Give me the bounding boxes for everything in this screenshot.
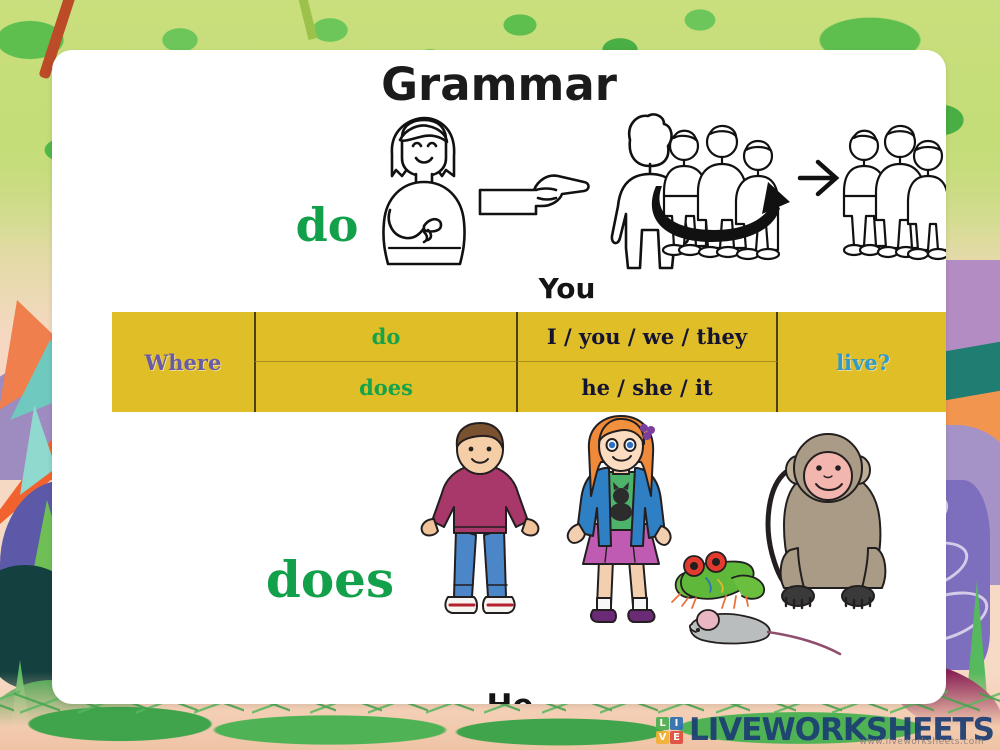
- animals-monkey-frog-mouse-icon: [672, 430, 922, 660]
- table-cell-aux-plural: do: [254, 312, 516, 362]
- boy-illustration-icon: [410, 425, 550, 630]
- table-cell-question-word: Where: [112, 312, 254, 412]
- logo-tile-v: V: [656, 731, 669, 744]
- page-title: Grammar: [52, 58, 946, 111]
- illustration-he: [410, 425, 550, 630]
- liveworksheets-watermark[interactable]: L I V E LIVEWORKSHEETS www.liveworksheet…: [656, 715, 994, 746]
- illustration-we: [650, 120, 795, 270]
- illustration-it: [672, 430, 922, 660]
- worksheet-card: Grammar do: [52, 50, 946, 704]
- caption-he: He: [440, 688, 580, 704]
- logo-tile-i: I: [670, 717, 683, 730]
- right-arrow-icon: [800, 162, 836, 194]
- group-with-circular-arrow-icon: [650, 120, 795, 270]
- table-cell-subjects-plural: I / you / we / they: [516, 312, 778, 362]
- person-pointing-to-self-icon: [362, 110, 482, 270]
- grammar-table: Where do I / you / we / they does he / s…: [112, 312, 946, 412]
- logo-tile-e: E: [670, 731, 683, 744]
- table-cell-aux-singular: does: [254, 362, 516, 412]
- liveworksheets-logo-icon: L I V E: [656, 717, 683, 744]
- liveworksheets-url: www.liveworksheets.com: [859, 737, 984, 747]
- girl-illustration-icon: [547, 420, 692, 635]
- illustration-i: [362, 110, 482, 270]
- monkey-icon: [768, 434, 885, 608]
- caption-she: She: [580, 700, 720, 704]
- verb-label-does: does: [230, 550, 430, 609]
- mouse-icon: [690, 610, 840, 654]
- caption-it: It: [772, 700, 912, 704]
- frog-icon: [672, 552, 764, 608]
- caption-you: You: [512, 272, 622, 305]
- logo-tile-l: L: [656, 717, 669, 730]
- worksheet-stage: Grammar do: [0, 0, 1000, 750]
- arrow-pointing-to-group-icon: [800, 120, 946, 270]
- table-cell-verb: live?: [778, 312, 946, 412]
- table-cell-subjects-singular: he / she / it: [516, 362, 778, 412]
- illustration-she: [547, 420, 692, 635]
- illustration-they: [800, 120, 946, 270]
